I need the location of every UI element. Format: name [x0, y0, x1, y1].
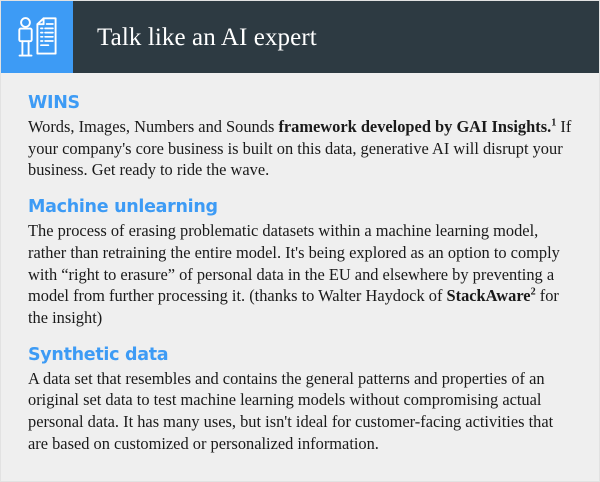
glossary-term-machine-unlearning: Machine unlearning The process of erasin…: [28, 197, 573, 328]
term-heading: Machine unlearning: [28, 197, 573, 217]
glossary-term-synthetic-data: Synthetic data A data set that resembles…: [28, 345, 573, 455]
card-header: Talk like an AI expert: [1, 1, 599, 73]
presenter-with-document-icon: [14, 15, 60, 59]
glossary-terms-list: WINS Words, Images, Numbers and Sounds f…: [1, 73, 599, 454]
term-heading: Synthetic data: [28, 345, 573, 365]
ai-glossary-card: Talk like an AI expert WINS Words, Image…: [0, 0, 600, 482]
term-definition: A data set that resembles and contains t…: [28, 368, 573, 455]
page-title: Talk like an AI expert: [73, 1, 599, 73]
term-definition: Words, Images, Numbers and Sounds framew…: [28, 116, 573, 181]
glossary-term-wins: WINS Words, Images, Numbers and Sounds f…: [28, 93, 573, 181]
term-definition: The process of erasing problematic datas…: [28, 220, 573, 328]
header-logo: [1, 1, 73, 73]
term-heading: WINS: [28, 93, 573, 113]
